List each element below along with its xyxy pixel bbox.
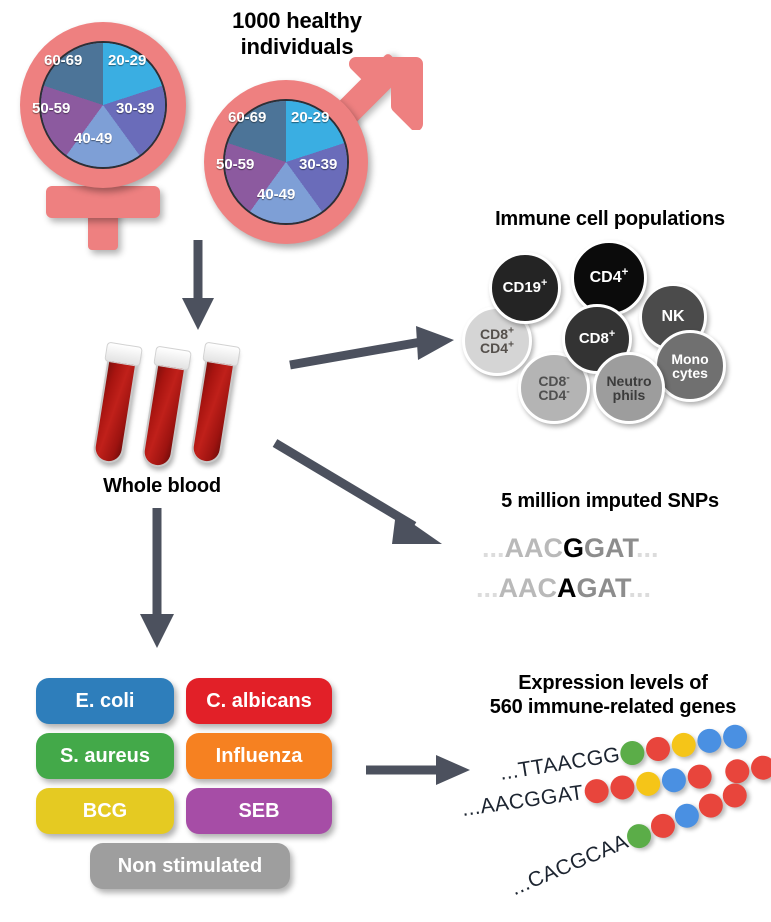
dna-sequence-text: ...CACGCAA: [507, 830, 632, 901]
immune-cell-label: CD8+: [579, 331, 615, 346]
expression-dot: [660, 767, 687, 794]
immune-cell-label: NK: [661, 309, 684, 325]
expression-dot: [722, 723, 749, 750]
expression-dot: [609, 774, 636, 801]
immune-cell-label: CD19+: [503, 280, 548, 295]
expression-dot: [634, 770, 661, 797]
immune-cell-label: Monocytes: [671, 352, 708, 381]
immune-cell-label: CD4+: [590, 270, 629, 286]
gene-expression-strands: ...TTAACGG ...AACGGAT ...CACGCAA: [0, 0, 771, 922]
immune-cell-cd19pos: CD19+: [489, 252, 561, 324]
expression-dot: [749, 754, 771, 781]
expression-dot: [696, 727, 723, 754]
dna-sequence-text: ...AACGGAT: [460, 781, 585, 822]
immune-cell-label: CD8+CD4+: [480, 327, 514, 356]
expression-dot: [619, 739, 646, 766]
immune-cell-cd4pos: CD4+: [571, 240, 647, 316]
expression-dot: [645, 735, 672, 762]
expression-dot: [670, 731, 697, 758]
immune-cell-label: Neutrophils: [606, 374, 651, 403]
expression-dot: [583, 778, 610, 805]
immune-cell-neutrophils: Neutrophils: [593, 352, 665, 424]
immune-cell-label: CD8-CD4-: [538, 374, 569, 403]
expression-dot: [686, 763, 713, 790]
figure-canvas: 1000 healthy individuals 20-29 30-39 40-…: [0, 0, 771, 922]
